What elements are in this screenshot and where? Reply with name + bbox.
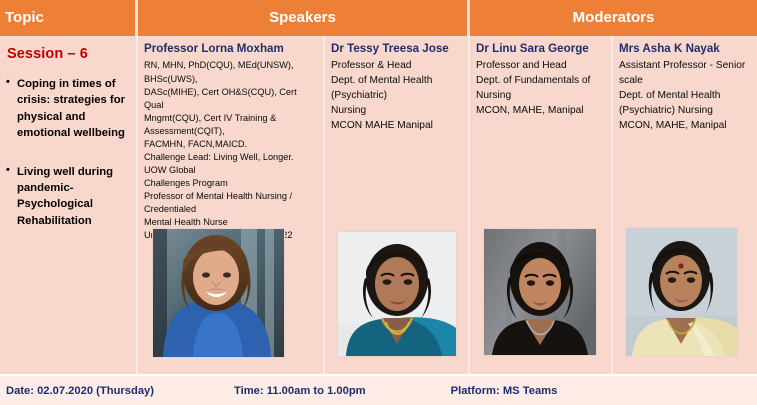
credential-line: Professor of Mental Health Nursing / Cre… <box>144 190 318 216</box>
moderator-name-1: Dr Linu Sara George <box>476 42 606 56</box>
moderator-photo-2 <box>625 227 738 357</box>
credential-line: Mngmt(CQU), Cert IV Training & Assessmen… <box>144 112 318 138</box>
affiliation-line: Assistant Professor - Senior scale <box>619 59 752 89</box>
footer-time: Time: 11.00am to 1.00pm <box>234 385 366 397</box>
footer-date: Date: 02.07.2020 (Thursday) <box>6 385 154 397</box>
credential-line: DASc(MIHE), Cert OH&S(CQU), Cert Qual <box>144 86 318 112</box>
speaker-cell-2: Dr Tessy Treesa Jose Professor & Head De… <box>325 36 470 374</box>
affiliation-line: MCON MAHE Manipal <box>331 119 463 134</box>
affiliation-line: Professor and Head <box>476 59 606 74</box>
speaker-photo-1 <box>152 228 285 358</box>
moderator-photo-1 <box>483 228 597 356</box>
affiliation-line: Dept. of Mental Health <box>619 89 752 104</box>
speaker-cell-1: Professor Lorna Moxham RN, MHN, PhD(CQU)… <box>138 36 325 374</box>
affiliation-line: Dept. of Mental Health (Psychiatric) <box>331 74 463 104</box>
header-speakers: Speakers <box>138 0 470 36</box>
moderator-affiliation-2: Assistant Professor - Senior scale Dept.… <box>619 59 752 133</box>
footer-platform: Platform: MS Teams <box>451 385 558 397</box>
moderator-cell-1: Dr Linu Sara George Professor and Head D… <box>470 36 613 374</box>
speaker-credentials-1: RN, MHN, PhD(CQU), MEd(UNSW), BHSc(UWS),… <box>144 59 318 242</box>
session-schedule-poster: Topic Speakers Moderators Session – 6 Co… <box>0 0 757 405</box>
speaker-name-1: Professor Lorna Moxham <box>144 42 318 56</box>
affiliation-line: MCON, MAHE, Manipal <box>476 104 606 119</box>
session-title: Session – 6 <box>7 46 130 62</box>
table-header-row: Topic Speakers Moderators <box>0 0 757 36</box>
header-topic: Topic <box>0 0 138 36</box>
footer-row: Date: 02.07.2020 (Thursday) Time: 11.00a… <box>0 374 757 405</box>
affiliation-line: Dept. of Fundamentals of Nursing <box>476 74 606 104</box>
topic-bullet-list: Coping in times of crisis: strategies fo… <box>6 76 130 229</box>
credential-line: RN, MHN, PhD(CQU), MEd(UNSW), BHSc(UWS), <box>144 59 318 85</box>
speaker-name-2: Dr Tessy Treesa Jose <box>331 42 463 56</box>
credential-line: Challenges Program <box>144 177 318 190</box>
moderator-cell-2: Mrs Asha K Nayak Assistant Professor - S… <box>613 36 757 374</box>
speaker-photo-2 <box>337 231 457 357</box>
affiliation-line: Professor & Head <box>331 59 463 74</box>
topic-cell: Session – 6 Coping in times of crisis: s… <box>0 36 138 374</box>
moderator-name-2: Mrs Asha K Nayak <box>619 42 752 56</box>
credential-line: Challenge Lead: Living Well, Longer. UOW… <box>144 151 318 177</box>
moderator-affiliation-1: Professor and Head Dept. of Fundamentals… <box>476 59 606 118</box>
affiliation-line: (Psychiatric) Nursing <box>619 104 752 119</box>
header-moderators: Moderators <box>470 0 757 36</box>
credential-line: FACMHN, FACN,MAICD. <box>144 138 318 151</box>
table-body-row: Session – 6 Coping in times of crisis: s… <box>0 36 757 374</box>
topic-bullet-1: Coping in times of crisis: strategies fo… <box>6 76 130 142</box>
affiliation-line: Nursing <box>331 104 463 119</box>
topic-bullet-2: Living well during pandemic- Psychologic… <box>6 164 130 230</box>
speaker-affiliation-2: Professor & Head Dept. of Mental Health … <box>331 59 463 133</box>
affiliation-line: MCON, MAHE, Manipal <box>619 119 752 134</box>
